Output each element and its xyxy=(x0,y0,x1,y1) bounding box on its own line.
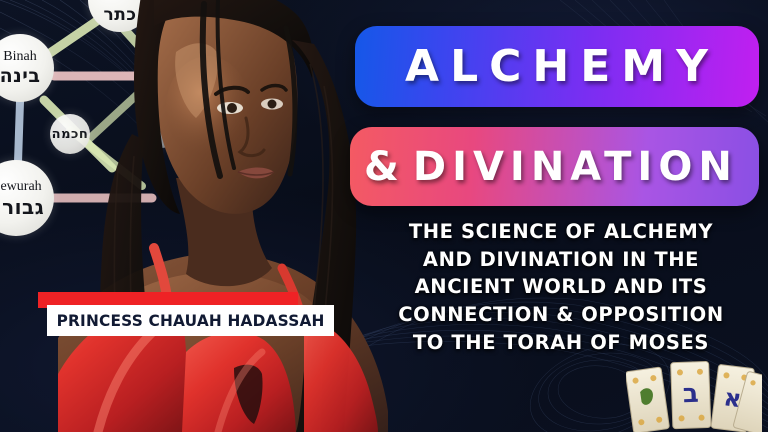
title-banner-alchemy: ALCHEMY xyxy=(355,26,759,107)
sephira-binah-latin: Binah xyxy=(3,50,36,64)
subtitle-line-3: ANCIENT WORLD AND ITS xyxy=(366,273,756,301)
subtitle-line-2: AND DIVINATION IN THE xyxy=(366,246,756,274)
subtitle-line-5: TO THE TORAH OF MOSES xyxy=(366,329,756,357)
title-alchemy-text: ALCHEMY xyxy=(395,41,719,92)
presenter-portrait xyxy=(58,0,388,432)
sephira-gewurah-hebrew: גבורה xyxy=(0,197,44,217)
presenter-name-text: PRINCESS CHAUAH HADASSAH xyxy=(56,311,324,330)
presenter-name-banner: PRINCESS CHAUAH HADASSAH xyxy=(38,292,334,336)
subtitle-line-4: CONNECTION & OPPOSITION xyxy=(366,301,756,329)
thumbnail-canvas: Kether כתר Binah בינה Gewurah גבורה חכמה… xyxy=(0,0,768,432)
sephira-binah-hebrew: בינה xyxy=(0,67,40,86)
subtitle-line-1: THE SCIENCE OF ALCHEMY xyxy=(366,218,756,246)
title-banner-divination: & DIVINATION xyxy=(350,127,759,206)
svg-text:ב: ב xyxy=(682,379,699,410)
tarot-cards-graphic: ב א xyxy=(626,354,762,432)
title-divination-text: DIVINATION xyxy=(413,144,738,190)
sephira-gewurah-latin: Gewurah xyxy=(0,180,42,194)
name-banner-plate: PRINCESS CHAUAH HADASSAH xyxy=(47,305,334,336)
subtitle-block: THE SCIENCE OF ALCHEMY AND DIVINATION IN… xyxy=(366,218,756,356)
title-ampersand: & xyxy=(364,144,399,190)
